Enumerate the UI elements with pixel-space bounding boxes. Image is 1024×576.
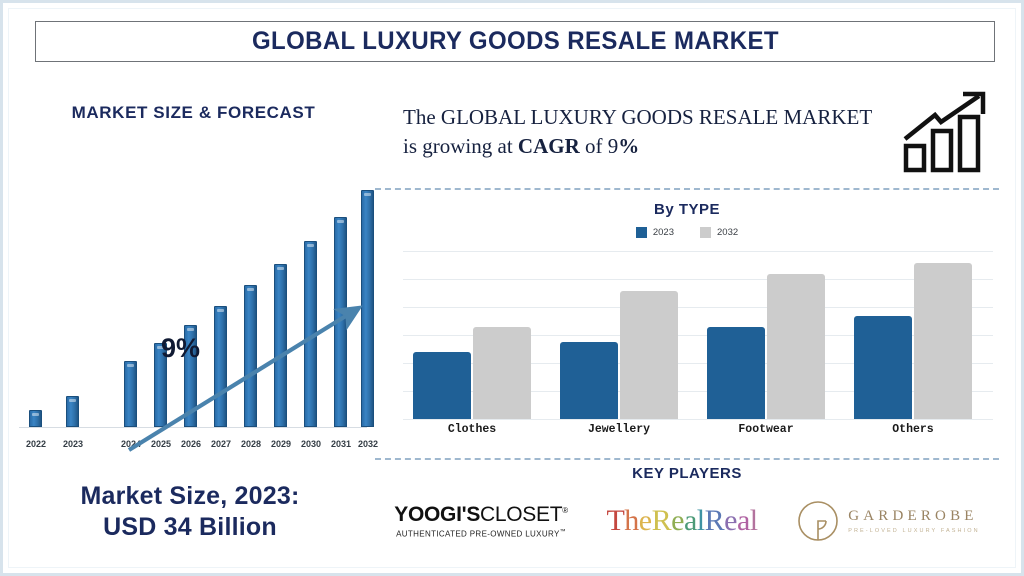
yoogis-tagline-text: AUTHENTICATED PRE-OWNED LUXURY xyxy=(396,530,560,539)
logo-yoogis-closet: YOOGI'SCLOSET® AUTHENTICATED PRE-OWNED L… xyxy=(394,503,568,539)
type-category-label-others: Others xyxy=(848,423,978,436)
gridline-1 xyxy=(403,279,993,280)
forecast-bar-2030 xyxy=(304,241,317,427)
key-players-heading: KEY PLAYERS xyxy=(375,465,999,482)
market-size-line-2: USD 34 Billion xyxy=(15,512,365,543)
forecast-label-2028: 2028 xyxy=(237,439,266,450)
garderobe-tagline: PRE-LOVED LUXURY FASHION xyxy=(848,528,980,534)
realreal-letter-9: a xyxy=(737,504,750,537)
realreal-wordmark: TheRealReal xyxy=(606,504,757,538)
chart-baseline xyxy=(19,427,367,428)
legend-item-2032: 2032 xyxy=(700,227,738,238)
growth-chart-icon xyxy=(901,91,997,173)
forecast-label-2027: 2027 xyxy=(207,439,236,450)
realreal-letter-3: R xyxy=(652,504,672,537)
legend-item-2023: 2023 xyxy=(636,227,674,238)
type-bar-footwear-2032 xyxy=(767,274,825,419)
realreal-letter-8: e xyxy=(724,504,737,537)
realreal-letter-4: e xyxy=(671,504,684,537)
legend-label-2032: 2032 xyxy=(717,227,738,238)
forecast-label-2031: 2031 xyxy=(327,439,356,450)
legend-swatch-2023 xyxy=(636,227,647,238)
title-box: GLOBAL LUXURY GOODS RESALE MARKET xyxy=(35,21,995,62)
realreal-letter-0: T xyxy=(606,504,624,537)
divider-bottom xyxy=(375,458,999,460)
forecast-label-2026: 2026 xyxy=(177,439,206,450)
trademark-mark-icon: ™ xyxy=(560,529,566,535)
by-type-chart xyxy=(403,251,993,419)
realreal-letter-5: a xyxy=(684,504,697,537)
market-size-forecast-heading: MARKET SIZE & FORECAST xyxy=(21,103,366,123)
gridline-6 xyxy=(403,419,993,420)
yoogis-light-part: CLOSET xyxy=(480,503,562,526)
forecast-label-2029: 2029 xyxy=(267,439,296,450)
forecast-label-2022: 2022 xyxy=(22,439,51,450)
page-title: GLOBAL LUXURY GOODS RESALE MARKET xyxy=(252,27,779,56)
realreal-letter-10: l xyxy=(750,504,758,537)
forecast-label-2030: 2030 xyxy=(297,439,326,450)
type-category-label-jewellery: Jewellery xyxy=(554,423,684,436)
logo-the-realreal: TheRealReal xyxy=(606,504,757,538)
by-type-heading: By TYPE xyxy=(375,201,999,218)
forecast-bar-2032 xyxy=(361,190,374,427)
type-bar-jewellery-2032 xyxy=(620,291,678,419)
statement-part-2: of 9 xyxy=(580,134,619,158)
divider-top xyxy=(375,188,999,190)
type-bar-clothes-2032 xyxy=(473,327,531,419)
type-bar-clothes-2023 xyxy=(413,352,471,419)
statement-percent: % xyxy=(618,134,639,158)
forecast-bar-2029 xyxy=(274,264,287,427)
forecast-bar-2024 xyxy=(124,361,137,427)
market-size-line-1: Market Size, 2023: xyxy=(15,481,365,512)
by-type-legend: 20232032 xyxy=(375,227,999,238)
type-category-label-footwear: Footwear xyxy=(701,423,831,436)
registered-mark-icon: ® xyxy=(562,506,568,515)
gridline-2 xyxy=(403,307,993,308)
type-bar-others-2032 xyxy=(914,263,972,419)
forecast-label-2024: 2024 xyxy=(117,439,146,450)
forecast-label-2025: 2025 xyxy=(147,439,176,450)
realreal-letter-7: R xyxy=(705,504,725,537)
forecast-bar-2023 xyxy=(66,396,79,427)
garderobe-textblock: GARDEROBE PRE-LOVED LUXURY FASHION xyxy=(848,508,980,534)
garderobe-g-mark-icon xyxy=(796,499,840,543)
gridline-0 xyxy=(403,251,993,252)
forecast-bar-2022 xyxy=(29,410,42,427)
legend-swatch-2032 xyxy=(700,227,711,238)
realreal-letter-1: h xyxy=(624,504,639,537)
realreal-letter-2: e xyxy=(639,504,652,537)
key-players-logos: YOOGI'SCLOSET® AUTHENTICATED PRE-OWNED L… xyxy=(375,491,999,551)
forecast-bar-2028 xyxy=(244,285,257,427)
type-bar-jewellery-2023 xyxy=(560,342,618,419)
statement-cagr: CAGR xyxy=(518,134,580,158)
forecast-label-2023: 2023 xyxy=(59,439,88,450)
market-size-forecast-chart: 2022202320242025202620272028202920302031… xyxy=(11,153,371,428)
market-size-callout: Market Size, 2023: USD 34 Billion xyxy=(15,481,365,542)
yoogis-bold-part: YOOGI'S xyxy=(394,503,480,526)
infographic-page: GLOBAL LUXURY GOODS RESALE MARKET MARKET… xyxy=(0,0,1024,576)
forecast-label-2032: 2032 xyxy=(354,439,383,450)
garderobe-wordmark: GARDEROBE xyxy=(848,508,980,525)
yoogis-tagline: AUTHENTICATED PRE-OWNED LUXURY™ xyxy=(394,529,568,539)
type-category-label-clothes: Clothes xyxy=(407,423,537,436)
realreal-letter-6: l xyxy=(697,504,705,537)
type-bar-others-2023 xyxy=(854,316,912,419)
forecast-bar-2031 xyxy=(334,217,347,427)
yoogis-wordmark: YOOGI'SCLOSET® xyxy=(394,503,568,527)
legend-label-2023: 2023 xyxy=(653,227,674,238)
logo-garderobe: GARDEROBE PRE-LOVED LUXURY FASHION xyxy=(796,499,980,543)
type-bar-footwear-2023 xyxy=(707,327,765,419)
market-statement: The GLOBAL LUXURY GOODS RESALE MARKET is… xyxy=(403,103,873,161)
forecast-bar-2027 xyxy=(214,306,227,427)
cagr-badge-left: 9% xyxy=(161,333,200,364)
